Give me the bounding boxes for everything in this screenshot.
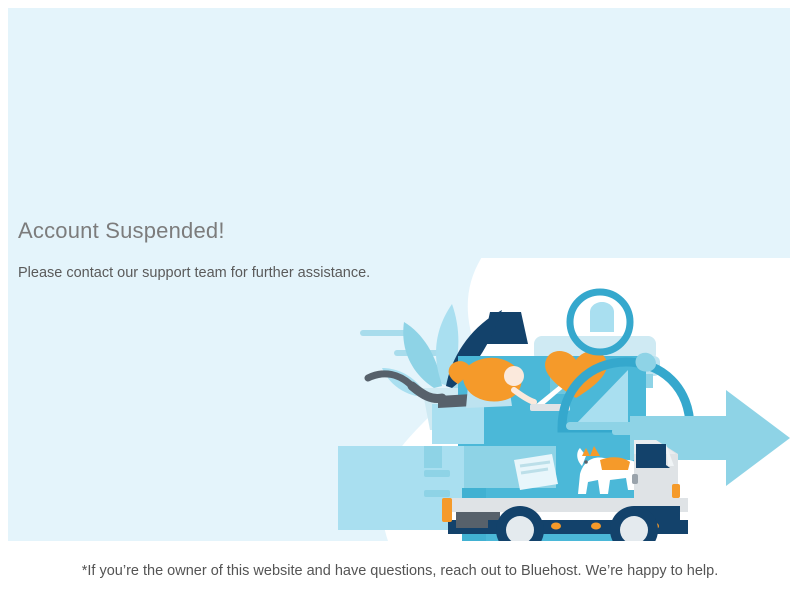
suspended-page: Account Suspended! Please contact our su… bbox=[0, 0, 800, 600]
moving-day-illustration bbox=[338, 258, 790, 541]
box-label bbox=[514, 454, 558, 490]
page-subtitle: Please contact our support team for furt… bbox=[18, 264, 538, 283]
message-block: Account Suspended! Please contact our su… bbox=[18, 218, 538, 283]
footer: *If you’re the owner of this website and… bbox=[0, 541, 800, 600]
page-title: Account Suspended! bbox=[18, 218, 538, 244]
footer-note: *If you’re the owner of this website and… bbox=[82, 563, 719, 579]
suspension-panel: Account Suspended! Please contact our su… bbox=[8, 8, 790, 541]
